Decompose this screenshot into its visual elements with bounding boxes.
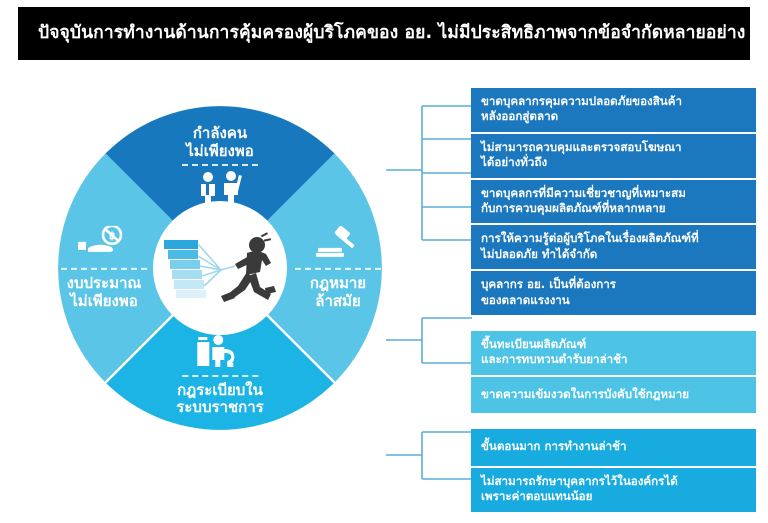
issue-line: ไม่สามารถรักษาบุคลากรไว้ในองค์กรได้: [481, 474, 746, 489]
issue-box[interactable]: ขาดบุคลากรคุมความปลอดภัยของสินค้า หลังออ…: [471, 88, 756, 132]
issue-line: ขั้นตอนมาก การทำงานล่าช้า: [481, 439, 746, 454]
wheel-label-budget[interactable]: ฿ งบประมาณ ไม่เพียงพอ: [61, 226, 147, 310]
wheel-label-outdated-law-line2: ล้าสมัย: [295, 293, 381, 311]
wheel-label-bureaucracy-line2: ระบบราชการ: [176, 399, 263, 417]
divider: [182, 164, 258, 166]
issue-line: ขาดบุคลกรที่มีความเชี่ยวชาญที่เหมาะสม: [481, 186, 746, 201]
wheel-label-outdated-law[interactable]: กฎหมาย ล้าสมัย: [295, 226, 381, 310]
issue-line: การให้ความรู้ต่อผู้บริโภคในเรื่องผลิตภัณ…: [481, 231, 746, 246]
issue-box[interactable]: การให้ความรู้ต่อผู้บริโภคในเรื่องผลิตภัณ…: [471, 223, 756, 269]
issue-box[interactable]: บุคลากร อย. เป็นที่ต้องการ ของตลาดแรงงาน: [471, 269, 756, 315]
divider: [295, 268, 381, 270]
issue-group-bureaucracy: ขั้นตอนมาก การทำงานล่าช้า ไม่สามารถรักษา…: [471, 429, 756, 511]
issue-box[interactable]: ไม่สามารถควบคุมและตรวจสอบโฆษณา ได้อย่างท…: [471, 132, 756, 178]
issue-box[interactable]: ขาดความเข้มงวดในการบังคับใช้กฎหมาย: [471, 375, 756, 413]
gavel-icon: [295, 226, 381, 264]
group-spacer: [471, 413, 756, 429]
two-people-icon: [182, 171, 258, 209]
wheel-label-manpower-line1: กำลังคน: [182, 125, 258, 143]
cause-wheel: กำลังคน ไม่เพียงพอ: [55, 103, 385, 433]
wheel-label-budget-line1: งบประมาณ: [61, 275, 147, 293]
group-spacer: [471, 315, 756, 331]
wheel-label-bureaucracy-line1: กฎระเบียบใน: [176, 382, 263, 400]
wheel-label-manpower[interactable]: กำลังคน ไม่เพียงพอ: [182, 125, 258, 211]
divider: [61, 268, 147, 270]
person-running-dragging-paperwork-icon: [161, 226, 279, 310]
wheel-label-budget-line2: ไม่เพียงพอ: [61, 293, 147, 311]
issue-line: บุคลากร อย. เป็นที่ต้องการ: [481, 277, 746, 292]
issue-box[interactable]: ขั้นตอนมาก การทำงานล่าช้า: [471, 429, 756, 465]
issue-line: หลังออกสู่ตลาด: [481, 109, 746, 124]
issue-box-column: ขาดบุคลากรคุมความปลอดภัยของสินค้า หลังออ…: [471, 88, 756, 512]
hand-holding-money-blocked-icon: ฿: [61, 226, 147, 264]
wheel-label-bureaucracy[interactable]: กฎระเบียบใน ระบบราชการ: [176, 333, 263, 417]
issue-line: และการทบทวนตำรับยาล่าช้า: [481, 352, 746, 367]
issue-line: เพราะค่าตอบแทนน้อย: [481, 489, 746, 504]
header-bar: ปัจจุบันการทำงานด้านการคุ้มครองผู้บริโภค…: [18, 7, 750, 60]
wheel-label-outdated-law-line1: กฎหมาย: [295, 275, 381, 293]
issue-line: กับการควบคุมผลิตภัณฑ์ที่หลากหลาย: [481, 201, 746, 216]
wheel-hub: [153, 201, 287, 335]
person-at-desk-paperwork-icon: [176, 333, 263, 371]
issue-group-law: ขึ้นทะเบียนผลิตภัณฑ์ และการทบทวนตำรับยาล…: [471, 331, 756, 413]
issue-line: ขาดบุคลากรคุมความปลอดภัยของสินค้า: [481, 94, 746, 109]
issue-line: ของตลาดแรงงาน: [481, 293, 746, 308]
wheel-label-manpower-line2: ไม่เพียงพอ: [182, 143, 258, 161]
issue-line: ไม่ปลอดภัย ทำได้จำกัด: [481, 247, 746, 262]
issue-line: ขึ้นทะเบียนผลิตภัณฑ์: [481, 337, 746, 352]
issue-box[interactable]: ขึ้นทะเบียนผลิตภัณฑ์ และการทบทวนตำรับยาล…: [471, 331, 756, 375]
page-title: ปัจจุบันการทำงานด้านการคุ้มครองผู้บริโภค…: [18, 25, 745, 43]
issue-line: ไม่สามารถควบคุมและตรวจสอบโฆษณา: [481, 140, 746, 155]
issue-box[interactable]: ไม่สามารถรักษาบุคลากรไว้ในองค์กรได้ เพรา…: [471, 466, 756, 512]
issue-line: ขาดความเข้มงวดในการบังคับใช้กฎหมาย: [481, 387, 746, 402]
divider: [182, 375, 258, 377]
issue-line: ได้อย่างทั่วถึง: [481, 155, 746, 170]
svg-text:฿: ฿: [109, 231, 115, 242]
issue-group-manpower: ขาดบุคลากรคุมความปลอดภัยของสินค้า หลังออ…: [471, 88, 756, 315]
issue-box[interactable]: ขาดบุคลกรที่มีความเชี่ยวชาญที่เหมาะสม กั…: [471, 178, 756, 224]
